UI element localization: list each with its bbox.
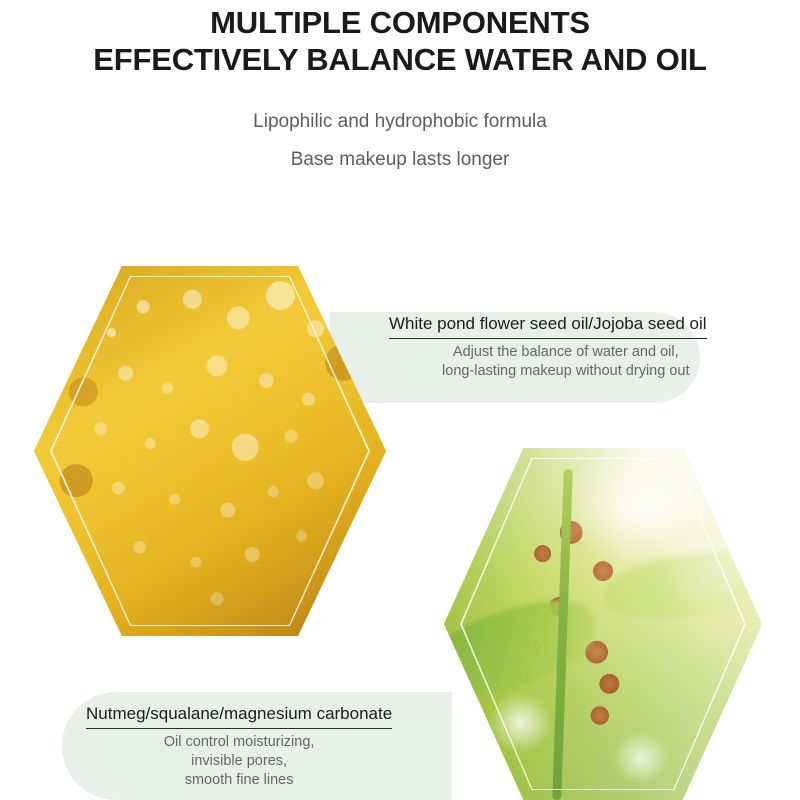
subtitle-line-1: Lipophilic and hydrophobic formula <box>0 103 800 141</box>
top-callout-title: White pond flower seed oil/Jojoba seed o… <box>389 313 707 339</box>
page-subtitle: Lipophilic and hydrophobic formula Base … <box>0 103 800 179</box>
bottom-callout-body-line-1: Oil control moisturizing, <box>86 733 392 752</box>
bottom-callout-body: Oil control moisturizing, invisible pore… <box>86 733 392 790</box>
plant-hexagon-image <box>444 448 762 800</box>
subtitle-line-2: Base makeup lasts longer <box>0 141 800 179</box>
page-title: MULTIPLE COMPONENTS EFFECTIVELY BALANCE … <box>0 4 800 78</box>
headline-line-2: EFFECTIVELY BALANCE WATER AND OIL <box>0 41 800 78</box>
top-callout-body-line-2: long-lasting makeup without drying out <box>425 362 707 381</box>
bottom-callout-title: Nutmeg/squalane/magnesium carbonate <box>86 703 392 729</box>
headline-line-1: MULTIPLE COMPONENTS <box>0 4 800 41</box>
bottom-callout-body-line-2: invisible pores, <box>86 752 392 771</box>
top-callout-body: Adjust the balance of water and oil, lon… <box>389 343 707 381</box>
plant-photo-inner <box>444 448 762 800</box>
infographic-canvas: MULTIPLE COMPONENTS EFFECTIVELY BALANCE … <box>0 0 800 800</box>
top-callout-body-line-1: Adjust the balance of water and oil, <box>425 343 707 362</box>
top-callout-text: White pond flower seed oil/Jojoba seed o… <box>389 313 707 381</box>
bottom-callout-text: Nutmeg/squalane/magnesium carbonate Oil … <box>86 703 392 790</box>
bottom-callout-body-line-3: smooth fine lines <box>86 771 392 790</box>
